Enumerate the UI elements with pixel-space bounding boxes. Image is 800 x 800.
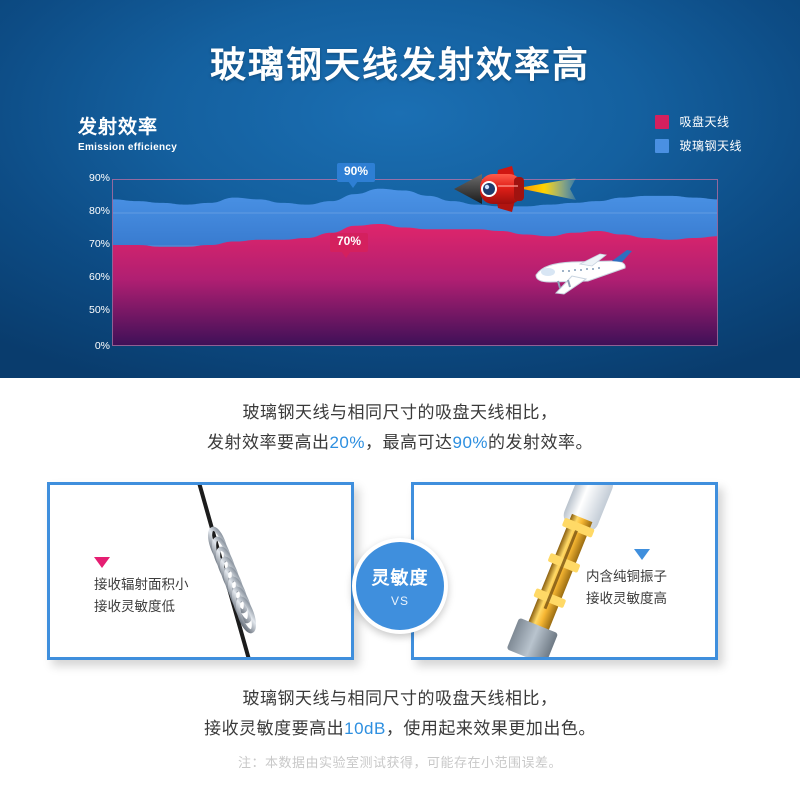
bottom-line-1: 玻璃钢天线与相同尺寸的吸盘天线相比， xyxy=(0,684,800,714)
y-tick-50: 50% xyxy=(89,304,110,316)
bottom-line2-part-b: ，使用起来效果更加出色。 xyxy=(386,719,596,738)
copper-element-antenna-icon xyxy=(414,485,715,657)
y-tick-0: 0% xyxy=(95,340,110,352)
mid-line2-part-a: 发射效率要高出 xyxy=(207,433,330,452)
y-tick-60: 60% xyxy=(89,271,110,283)
bottom-highlight-10db: 10dB xyxy=(344,719,386,738)
mid-description: 玻璃钢天线与相同尺寸的吸盘天线相比， 发射效率要高出20%，最高可达90%的发射… xyxy=(0,398,800,458)
vs-badge: 灵敏度 VS xyxy=(352,538,448,634)
vs-subtitle: VS xyxy=(391,594,409,608)
legend-label-fiberglass: 玻璃钢天线 xyxy=(679,137,742,154)
legend-item-fiberglass: 玻璃钢天线 xyxy=(655,137,742,154)
panel-left-caption-line1: 接收辐射面积小 xyxy=(94,574,189,596)
legend-swatch-suction xyxy=(655,115,669,129)
airplane-icon xyxy=(528,248,632,298)
mid-line-2: 发射效率要高出20%，最高可达90%的发射效率。 xyxy=(0,428,800,458)
footnote: 注：本数据由实验室测试获得，可能存在小范围误差。 xyxy=(0,752,800,771)
chart-y-axis: 90% 80% 70% 60% 50% 0% xyxy=(76,172,110,354)
chart-legend: 吸盘天线 玻璃钢天线 xyxy=(655,113,742,161)
panel-right-caption-line2: 接收灵敏度高 xyxy=(586,588,667,610)
y-tick-90: 90% xyxy=(89,172,110,184)
rocket-icon xyxy=(452,158,576,220)
mid-line2-part-b: ，最高可达 xyxy=(365,433,453,452)
chart-title-en: Emission efficiency xyxy=(78,142,177,153)
vs-title: 灵敏度 xyxy=(372,564,429,590)
legend-item-suction: 吸盘天线 xyxy=(655,113,742,130)
chart-title-block: 发射效率 Emission efficiency xyxy=(78,112,177,153)
bottom-line-2: 接收灵敏度要高出10dB，使用起来效果更加出色。 xyxy=(0,714,800,744)
y-tick-70: 70% xyxy=(89,238,110,250)
triangle-down-icon-pink xyxy=(94,557,110,568)
panel-fiberglass-antenna: 内含纯铜振子 接收灵敏度高 xyxy=(411,482,718,660)
panel-left-caption-line2: 接收灵敏度低 xyxy=(94,596,189,618)
mid-highlight-20: 20% xyxy=(329,433,365,452)
hero-section: 玻璃钢天线发射效率高 发射效率 Emission efficiency 吸盘天线… xyxy=(0,0,800,378)
triangle-down-icon-blue xyxy=(634,549,650,560)
panel-left-caption: 接收辐射面积小 接收灵敏度低 xyxy=(94,557,189,618)
bottom-line2-part-a: 接收灵敏度要高出 xyxy=(204,719,344,738)
panel-right-caption: 内含纯铜振子 接收灵敏度高 xyxy=(586,549,667,610)
bottom-description: 玻璃钢天线与相同尺寸的吸盘天线相比， 接收灵敏度要高出10dB，使用起来效果更加… xyxy=(0,684,800,744)
legend-label-suction: 吸盘天线 xyxy=(679,113,729,130)
page-title: 玻璃钢天线发射效率高 xyxy=(0,36,800,88)
mid-line-1: 玻璃钢天线与相同尺寸的吸盘天线相比， xyxy=(0,398,800,428)
mid-highlight-90: 90% xyxy=(453,433,489,452)
mid-line2-part-c: 的发射效率。 xyxy=(488,433,593,452)
panel-right-caption-line1: 内含纯铜振子 xyxy=(586,566,667,588)
chart-title-cn: 发射效率 xyxy=(78,112,177,139)
panel-suction-antenna: 接收辐射面积小 接收灵敏度低 xyxy=(47,482,354,660)
legend-swatch-fiberglass xyxy=(655,139,669,153)
y-tick-80: 80% xyxy=(89,205,110,217)
data-badge-90: 90% xyxy=(337,163,375,182)
data-badge-70: 70% xyxy=(330,233,368,252)
